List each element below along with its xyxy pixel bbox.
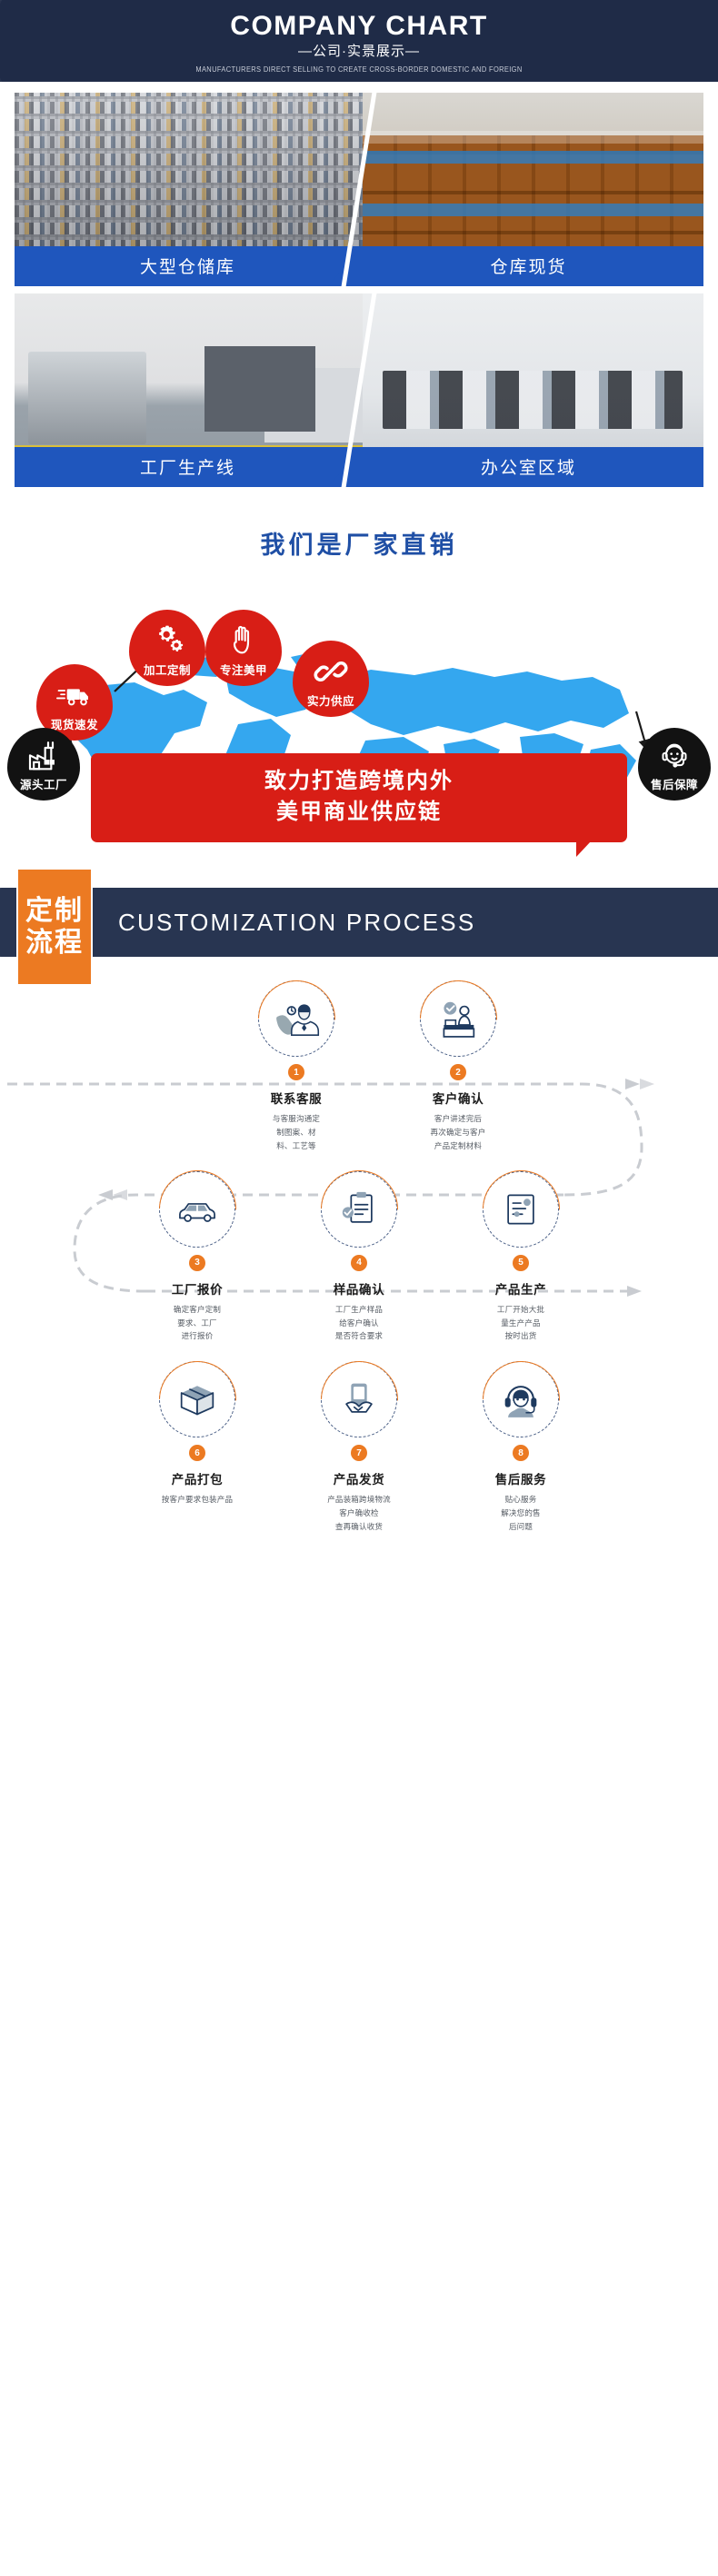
process-step-6-number: 6 xyxy=(189,1445,205,1461)
process-step-7-title: 产品发货 xyxy=(291,1469,427,1487)
process-step-3: 3 工厂报价 确定客户定制 要求、工厂 进行报价 xyxy=(129,1171,265,1344)
phone-support-icon xyxy=(258,980,334,1057)
desk-check-icon xyxy=(420,980,496,1057)
direct-sales-title: 我们是厂家直销 xyxy=(0,525,718,561)
factory-icon xyxy=(7,728,80,780)
process-steps-row-3: 6 产品打包 按客户要求包装产品 7 产品发货 产品装箱跨境物流 客户确收检 查… xyxy=(0,1361,718,1534)
customization-process-header: 定制 流程 CUSTOMIZATION PROCESS xyxy=(0,888,718,957)
page-header-english-tagline: MANUFACTURERS DIRECT SELLING TO CREATE C… xyxy=(195,65,522,74)
badge-custom-processing-label: 加工定制 xyxy=(144,665,191,687)
photo-row-1-captions: 大型仓储库 仓库现货 xyxy=(15,246,703,286)
process-step-8-title: 售后服务 xyxy=(453,1469,589,1487)
process-step-1-number: 1 xyxy=(288,1064,304,1080)
process-step-8-number: 8 xyxy=(513,1445,529,1461)
customization-process-title: CUSTOMIZATION PROCESS xyxy=(118,909,475,937)
customization-badge: 定制 流程 xyxy=(16,868,93,986)
headset-support-icon xyxy=(483,1361,559,1437)
process-step-4: 4 样品确认 工厂生产样品 给客户确认 是否符合要求 xyxy=(291,1171,427,1344)
process-step-8: 8 售后服务 贴心服务 解决您的售 后问题 xyxy=(453,1361,589,1534)
process-step-4-number: 4 xyxy=(351,1255,367,1271)
process-step-1-desc: 与客服沟通定 制图案、材 料、工艺等 xyxy=(228,1112,364,1153)
process-step-4-desc: 工厂生产样品 给客户确认 是否符合要求 xyxy=(291,1303,427,1344)
photo-row-2: 工厂生产线 办公室区域 xyxy=(15,293,703,487)
badge-after-sales: 售后保障 xyxy=(638,728,711,801)
caption-factory-line-label: 工厂生产线 xyxy=(140,454,235,479)
supply-chain-banner: 致力打造跨境内外 美甲商业供应链 xyxy=(91,753,627,842)
process-step-6: 6 产品打包 按客户要求包装产品 xyxy=(129,1361,265,1534)
customization-badge-line2: 流程 xyxy=(25,927,84,959)
page-title: COMPANY CHART xyxy=(230,12,487,41)
chain-icon xyxy=(293,641,369,696)
badge-after-sales-label: 售后保障 xyxy=(651,780,698,801)
caption-office-area: 办公室区域 xyxy=(328,447,703,487)
document-gear-icon xyxy=(483,1171,559,1248)
badge-strong-supply: 实力供应 xyxy=(293,641,369,717)
process-step-7-desc: 产品装箱跨境物流 客户确收检 查再确认收货 xyxy=(291,1493,427,1534)
process-step-8-desc: 贴心服务 解决您的售 后问题 xyxy=(453,1493,589,1534)
process-step-4-title: 样品确认 xyxy=(291,1279,427,1298)
process-steps: 1 联系客服 与客服沟通定 制图案、材 料、工艺等 2 xyxy=(0,957,718,1561)
row-gap xyxy=(0,1153,718,1171)
supply-chain-banner-line1: 致力打造跨境内外 xyxy=(100,766,618,797)
process-step-6-title: 产品打包 xyxy=(129,1469,265,1487)
process-steps-row-1: 1 联系客服 与客服沟通定 制图案、材 料、工艺等 2 xyxy=(0,980,718,1153)
photo-gallery: 大型仓储库 仓库现货 工厂生产线 办公室区域 xyxy=(0,82,718,487)
caption-office-area-label: 办公室区域 xyxy=(481,454,576,479)
hand-icon xyxy=(205,610,282,665)
supply-chain-diagram: 现货速发 加工定制 xyxy=(0,575,718,875)
handshake-icon xyxy=(321,1361,397,1437)
process-step-7-number: 7 xyxy=(351,1445,367,1461)
process-step-7: 7 产品发货 产品装箱跨境物流 客户确收检 查再确认收货 xyxy=(291,1361,427,1534)
truck-icon xyxy=(36,664,113,720)
box-icon xyxy=(159,1361,235,1437)
badge-strong-supply-label: 实力供应 xyxy=(307,696,354,718)
photo-row-2-captions: 工厂生产线 办公室区域 xyxy=(15,447,703,487)
page-root: COMPANY CHART —公司·实景展示— MANUFACTURERS DI… xyxy=(0,0,718,1561)
process-step-2-desc: 客户讲述完后 再次确定与客户 产品定制材料 xyxy=(390,1112,526,1153)
process-step-1-title: 联系客服 xyxy=(228,1089,364,1107)
process-step-3-title: 工厂报价 xyxy=(129,1279,265,1298)
photo-row-1: 大型仓储库 仓库现货 xyxy=(15,93,703,286)
badge-custom-processing: 加工定制 xyxy=(129,610,205,686)
process-step-5-title: 产品生产 xyxy=(453,1279,589,1298)
caption-warehouse-cartons-label: 仓库现货 xyxy=(490,254,566,278)
process-step-2-title: 客户确认 xyxy=(390,1089,526,1107)
page-header: COMPANY CHART —公司·实景展示— MANUFACTURERS DI… xyxy=(0,0,718,82)
caption-warehouse-shelves-label: 大型仓储库 xyxy=(140,254,235,278)
process-step-5: 5 产品生产 工厂开始大批 量生产产品 按时出货 xyxy=(453,1171,589,1344)
process-step-2: 2 客户确认 客户讲述完后 再次确定与客户 产品定制材料 xyxy=(390,980,526,1153)
process-steps-row-2: 3 工厂报价 确定客户定制 要求、工厂 进行报价 4 样品确认 工厂生产样品 给 xyxy=(0,1171,718,1344)
clipboard-icon xyxy=(321,1171,397,1248)
badge-focus-nail-label: 专注美甲 xyxy=(220,665,267,687)
gears-icon xyxy=(129,610,205,665)
direct-sales-section: 我们是厂家直销 xyxy=(0,494,718,875)
process-step-3-number: 3 xyxy=(189,1255,205,1271)
headset-icon xyxy=(638,728,711,780)
car-quote-icon xyxy=(159,1171,235,1248)
badge-source-factory: 源头工厂 xyxy=(7,728,80,801)
process-step-2-number: 2 xyxy=(450,1064,466,1080)
badge-focus-nail: 专注美甲 xyxy=(205,610,282,686)
process-step-5-number: 5 xyxy=(513,1255,529,1271)
page-subtitle: —公司·实景展示— xyxy=(298,45,420,60)
process-step-1: 1 联系客服 与客服沟通定 制图案、材 料、工艺等 xyxy=(228,980,364,1153)
supply-chain-banner-line2: 美甲商业供应链 xyxy=(100,797,618,828)
badge-source-factory-label: 源头工厂 xyxy=(20,780,67,801)
process-step-6-desc: 按客户要求包装产品 xyxy=(129,1493,265,1507)
row-gap xyxy=(0,1343,718,1361)
process-step-5-desc: 工厂开始大批 量生产产品 按时出货 xyxy=(453,1303,589,1344)
customization-badge-line1: 定制 xyxy=(25,895,84,927)
caption-warehouse-cartons: 仓库现货 xyxy=(328,246,703,286)
process-step-3-desc: 确定客户定制 要求、工厂 进行报价 xyxy=(129,1303,265,1344)
